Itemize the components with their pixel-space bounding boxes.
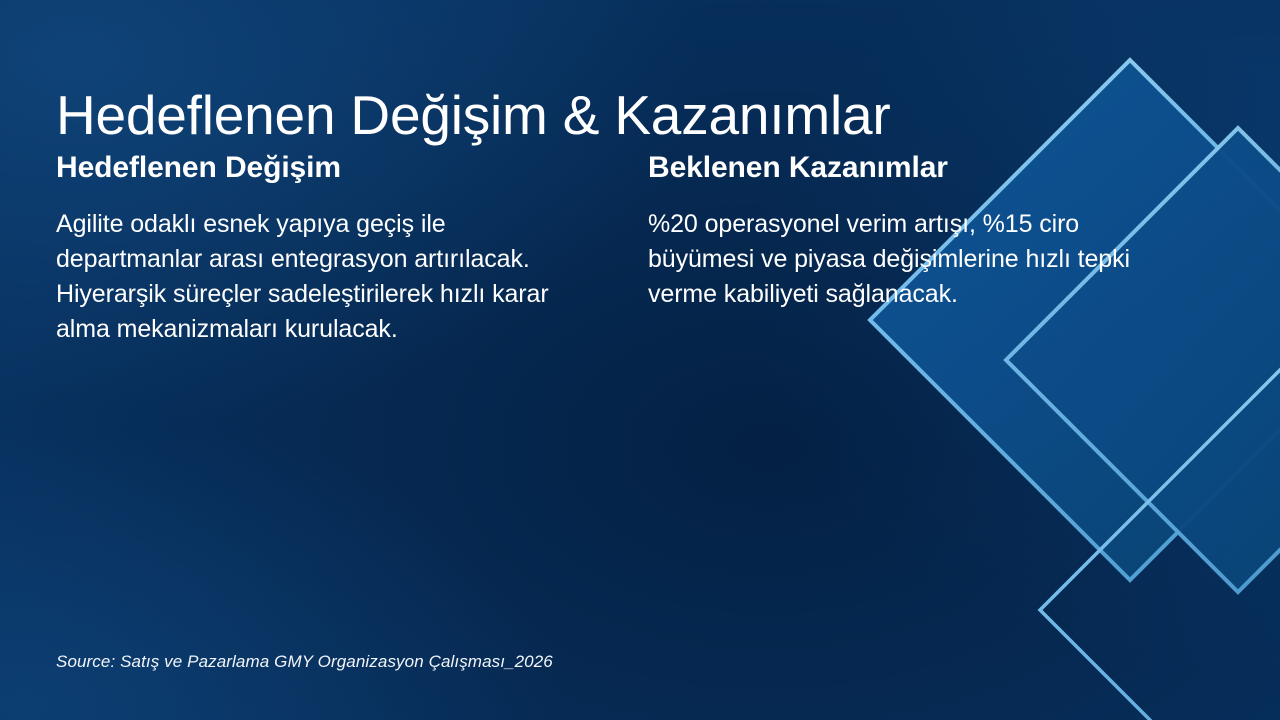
- page-title: Hedeflenen Değişim & Kazanımlar: [56, 85, 1056, 147]
- two-column-content: Hedeflenen Değişim Agilite odaklı esnek …: [56, 150, 1206, 347]
- column-heading-right: Beklenen Kazanımlar: [648, 150, 1178, 185]
- source-note: Source: Satış ve Pazarlama GMY Organizas…: [56, 652, 553, 672]
- column-beklenen-kazanimlar: Beklenen Kazanımlar %20 operasyonel veri…: [648, 150, 1178, 347]
- column-hedeflenen-degisim: Hedeflenen Değişim Agilite odaklı esnek …: [56, 150, 586, 347]
- column-body-left: Agilite odaklı esnek yapıya geçiş ile de…: [56, 207, 576, 347]
- presentation-slide: Hedeflenen Değişim & Kazanımlar Hedeflen…: [0, 0, 1280, 720]
- column-heading-left: Hedeflenen Değişim: [56, 150, 586, 185]
- column-body-right: %20 operasyonel verim artışı, %15 ciro b…: [648, 207, 1158, 312]
